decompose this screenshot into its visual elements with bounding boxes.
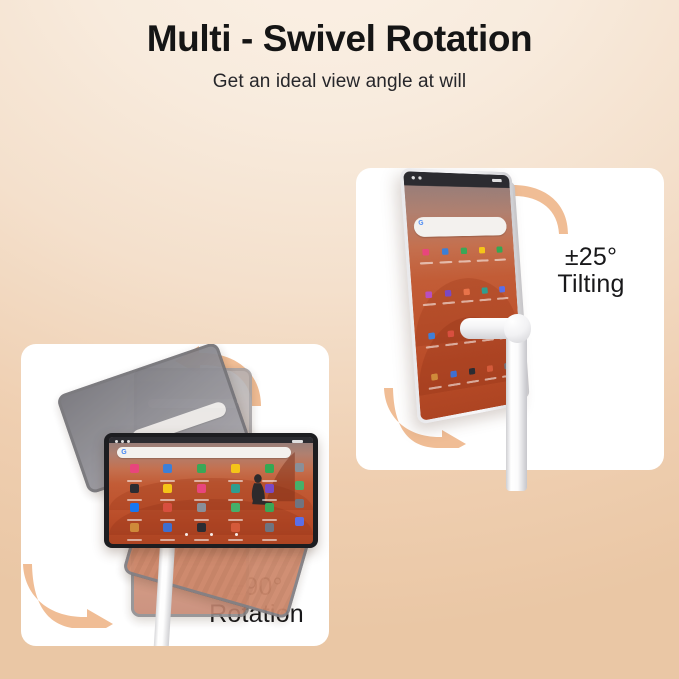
app-label: [439, 261, 452, 264]
app-label: [194, 519, 209, 521]
app-icon[interactable]: [130, 464, 139, 473]
page-dot[interactable]: [185, 533, 188, 536]
app-label: [445, 342, 458, 346]
app-icon[interactable]: [265, 503, 274, 512]
app-icon[interactable]: [130, 484, 139, 493]
app-label: [160, 499, 175, 501]
app-icon[interactable]: [481, 287, 487, 294]
app-icon[interactable]: [496, 247, 502, 253]
dock-icon[interactable]: [295, 463, 304, 472]
rotation-card-clip: ±90° Rotation: [21, 344, 329, 646]
app-icon[interactable]: [422, 249, 429, 256]
app-label: [464, 340, 476, 344]
app-icon[interactable]: [487, 365, 493, 372]
app-label: [262, 519, 277, 521]
stand-pole: [506, 328, 527, 470]
tablet-portrait: G: [411, 173, 551, 423]
app-label: [127, 519, 142, 521]
status-icon: [127, 440, 130, 443]
dock-icon[interactable]: [295, 481, 304, 490]
app-label: [228, 480, 243, 482]
feature-card-rotation: ±90° Rotation: [21, 344, 329, 646]
app-label: [127, 499, 142, 501]
app-icon[interactable]: [442, 248, 449, 255]
app-icon[interactable]: [231, 464, 240, 473]
app-icon[interactable]: [431, 374, 438, 381]
app-label: [228, 519, 243, 521]
app-icon[interactable]: [479, 247, 485, 253]
app-icon[interactable]: [499, 286, 505, 293]
app-label: [461, 300, 473, 303]
google-g-icon: G: [121, 449, 126, 456]
app-label: [194, 499, 209, 501]
app-icon[interactable]: [428, 332, 435, 339]
app-label: [127, 480, 142, 482]
app-label: [429, 386, 442, 390]
app-icon[interactable]: [163, 484, 172, 493]
page-indicator: [109, 523, 313, 541]
app-label: [426, 345, 439, 349]
app-icon[interactable]: [197, 464, 206, 473]
app-label: [160, 519, 175, 521]
google-g-icon: G: [418, 220, 424, 227]
app-icon[interactable]: [130, 503, 139, 512]
battery-icon: [492, 179, 502, 182]
app-icon[interactable]: [425, 291, 432, 298]
app-label: [467, 380, 479, 384]
app-label: [228, 499, 243, 501]
product-feature-poster: Multi - Swivel Rotation Get an ideal vie…: [0, 0, 679, 679]
arrow-curve-down-right-icon: [21, 562, 119, 628]
status-icon: [121, 440, 124, 443]
status-icon: [418, 176, 422, 179]
search-bar[interactable]: [117, 447, 290, 459]
header: Multi - Swivel Rotation Get an ideal vie…: [0, 18, 679, 93]
app-icon[interactable]: [163, 464, 172, 473]
status-icon: [411, 176, 415, 179]
app-icon[interactable]: [469, 368, 475, 375]
app-icon[interactable]: [163, 503, 172, 512]
dock-icon[interactable]: [295, 499, 304, 508]
app-icon[interactable]: [461, 248, 468, 255]
page-dot[interactable]: [235, 533, 238, 536]
app-label: [420, 262, 433, 265]
page-dot[interactable]: [210, 533, 213, 536]
app-label: [262, 499, 277, 501]
page-title: Multi - Swivel Rotation: [0, 18, 679, 61]
app-label: [423, 303, 436, 306]
app-label: [262, 480, 277, 482]
search-bar[interactable]: [413, 217, 507, 237]
status-icon: [115, 440, 118, 443]
feature-card-tilting: ±25° Tilting: [356, 168, 664, 470]
app-label: [194, 480, 209, 482]
app-icon[interactable]: [450, 371, 457, 378]
app-icon[interactable]: [445, 289, 452, 296]
tablet-screen-landscape[interactable]: G: [109, 437, 313, 544]
app-label: [497, 297, 509, 300]
app-label: [485, 377, 497, 381]
app-label: [477, 259, 489, 262]
app-label: [448, 383, 461, 387]
app-label: [458, 260, 470, 263]
app-icon[interactable]: [197, 484, 206, 493]
app-icon[interactable]: [231, 503, 240, 512]
app-icon[interactable]: [463, 288, 470, 295]
tablet-landscape: G: [104, 433, 318, 548]
app-icon[interactable]: [265, 484, 274, 493]
app-label: [442, 302, 455, 305]
battery-icon: [292, 440, 303, 443]
tilting-card-clip: ±25° Tilting: [356, 168, 664, 470]
app-icon[interactable]: [231, 484, 240, 493]
app-label: [479, 299, 491, 302]
app-icon[interactable]: [197, 503, 206, 512]
app-icon[interactable]: [448, 330, 455, 337]
app-icon[interactable]: [265, 464, 274, 473]
app-label: [494, 258, 506, 261]
stand-pivot-joint: [504, 314, 531, 343]
page-subtitle: Get an ideal view angle at will: [0, 71, 679, 93]
app-label: [160, 480, 175, 482]
